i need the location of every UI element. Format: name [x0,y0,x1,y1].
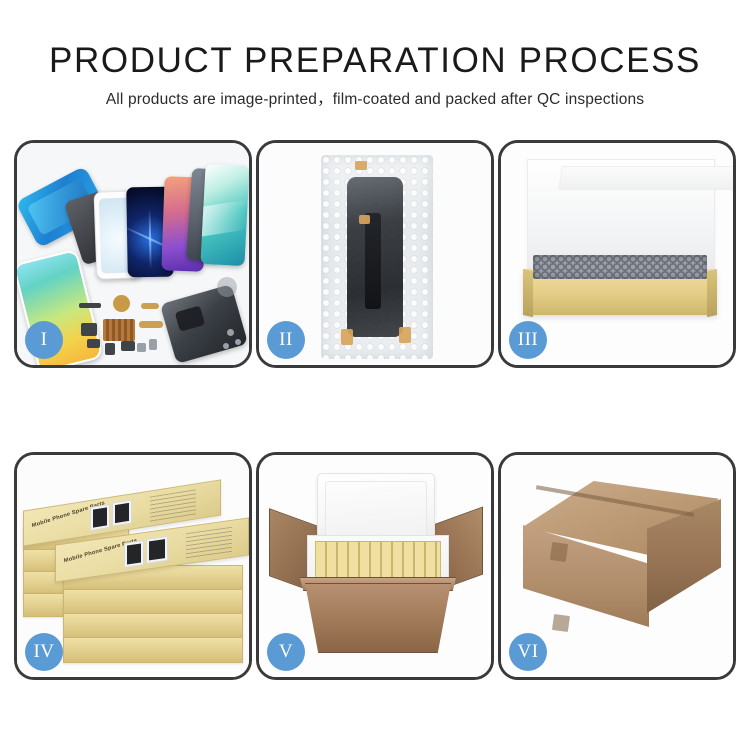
step-badge-6: VI [509,633,547,671]
wrapped-flex-cable [365,213,381,309]
bubble-wrapped-contents [533,255,707,279]
tape-strip-middle [359,215,370,224]
small-part-d [105,343,115,355]
small-part-f [137,343,146,352]
process-step-grid: I II [14,140,736,680]
teal-wave-phone [200,164,249,266]
step-badge-1: I [25,321,63,359]
tape-strip-bottom-right [399,327,411,343]
page-subtitle: All products are image-printed，film-coat… [0,81,750,110]
tape-strip-bottom-left [341,329,353,345]
bubble-wrap-bag [321,155,433,359]
tool-part [217,277,237,297]
page-title: PRODUCT PREPARATION PROCESS [0,0,750,81]
screw-part-c [223,343,229,349]
step-badge-3: III [509,321,547,359]
carton-tape-lower [552,614,570,632]
step-badge-5: V [267,633,305,671]
screw-part-b [235,339,241,345]
process-step-panel-3: III [498,140,736,368]
step-badge-4: IV [25,633,63,671]
small-part-b [81,323,97,336]
process-step-panel-4: Mobile Phone Spare Parts Mobile Pho [14,452,252,680]
flex-cable-part [141,303,159,309]
gold-speaker-part [113,295,130,312]
small-part-g [149,339,157,350]
carton-tape-upper [550,542,568,562]
process-step-panel-5: V [256,452,494,680]
process-step-panel-2: II [256,140,494,368]
screw-part-a [227,329,234,336]
small-part-e [121,341,135,351]
logic-board-part [103,319,135,341]
header: PRODUCT PREPARATION PROCESS All products… [0,0,750,110]
brown-carton-body [295,583,461,653]
small-part-c [87,339,100,348]
yellow-inner-box-tray [523,269,717,315]
small-part-a [79,303,101,308]
process-step-panel-1: I [14,140,252,368]
product-preparation-infographic: PRODUCT PREPARATION PROCESS All products… [0,0,750,750]
step-badge-2: II [267,321,305,359]
flex-cable-part-b [139,321,163,328]
tape-strip-top [355,161,367,170]
process-step-panel-6: VI [498,452,736,680]
